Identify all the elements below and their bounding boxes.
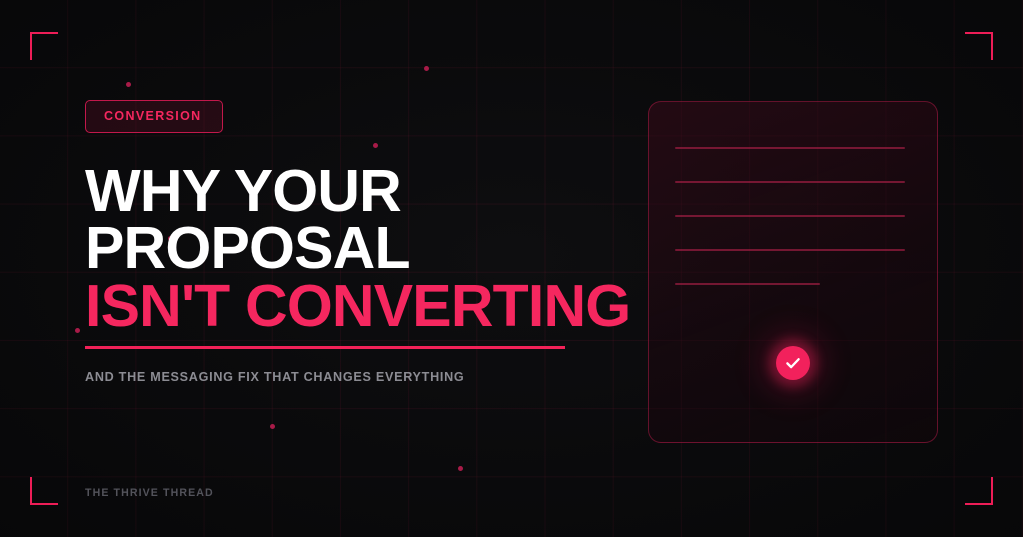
decor-dot	[270, 424, 275, 429]
status-badge	[649, 346, 937, 380]
check-circle-icon	[776, 346, 810, 380]
decor-dot	[75, 328, 80, 333]
document-line	[675, 249, 905, 251]
decor-dot	[424, 66, 429, 71]
decor-dot	[126, 82, 131, 87]
decor-dot	[458, 466, 463, 471]
corner-bracket-bottom-right-icon	[965, 477, 993, 505]
document-line	[675, 181, 905, 183]
headline-line-1: WHY YOUR	[85, 163, 645, 221]
corner-bracket-top-left-icon	[30, 32, 58, 60]
document-line	[675, 283, 820, 285]
headline-line-3-accent: ISN'T CONVERTING	[85, 278, 630, 336]
document-line	[675, 147, 905, 149]
document-line	[675, 215, 905, 217]
document-card	[648, 101, 938, 443]
page-subtitle: AND THE MESSAGING FIX THAT CHANGES EVERY…	[85, 370, 645, 384]
page-title: WHY YOUR PROPOSAL ISN'T CONVERTING	[85, 163, 645, 336]
headline-underline	[85, 346, 565, 349]
content-column: CONVERSION WHY YOUR PROPOSAL ISN'T CONVE…	[85, 100, 645, 384]
headline-line-2: PROPOSAL	[85, 220, 645, 278]
corner-bracket-top-right-icon	[965, 32, 993, 60]
document-text-lines	[675, 147, 905, 317]
poster-canvas: CONVERSION WHY YOUR PROPOSAL ISN'T CONVE…	[0, 0, 1023, 537]
corner-bracket-bottom-left-icon	[30, 477, 58, 505]
brand-footer: THE THRIVE THREAD	[85, 487, 214, 499]
category-badge: CONVERSION	[85, 100, 223, 133]
